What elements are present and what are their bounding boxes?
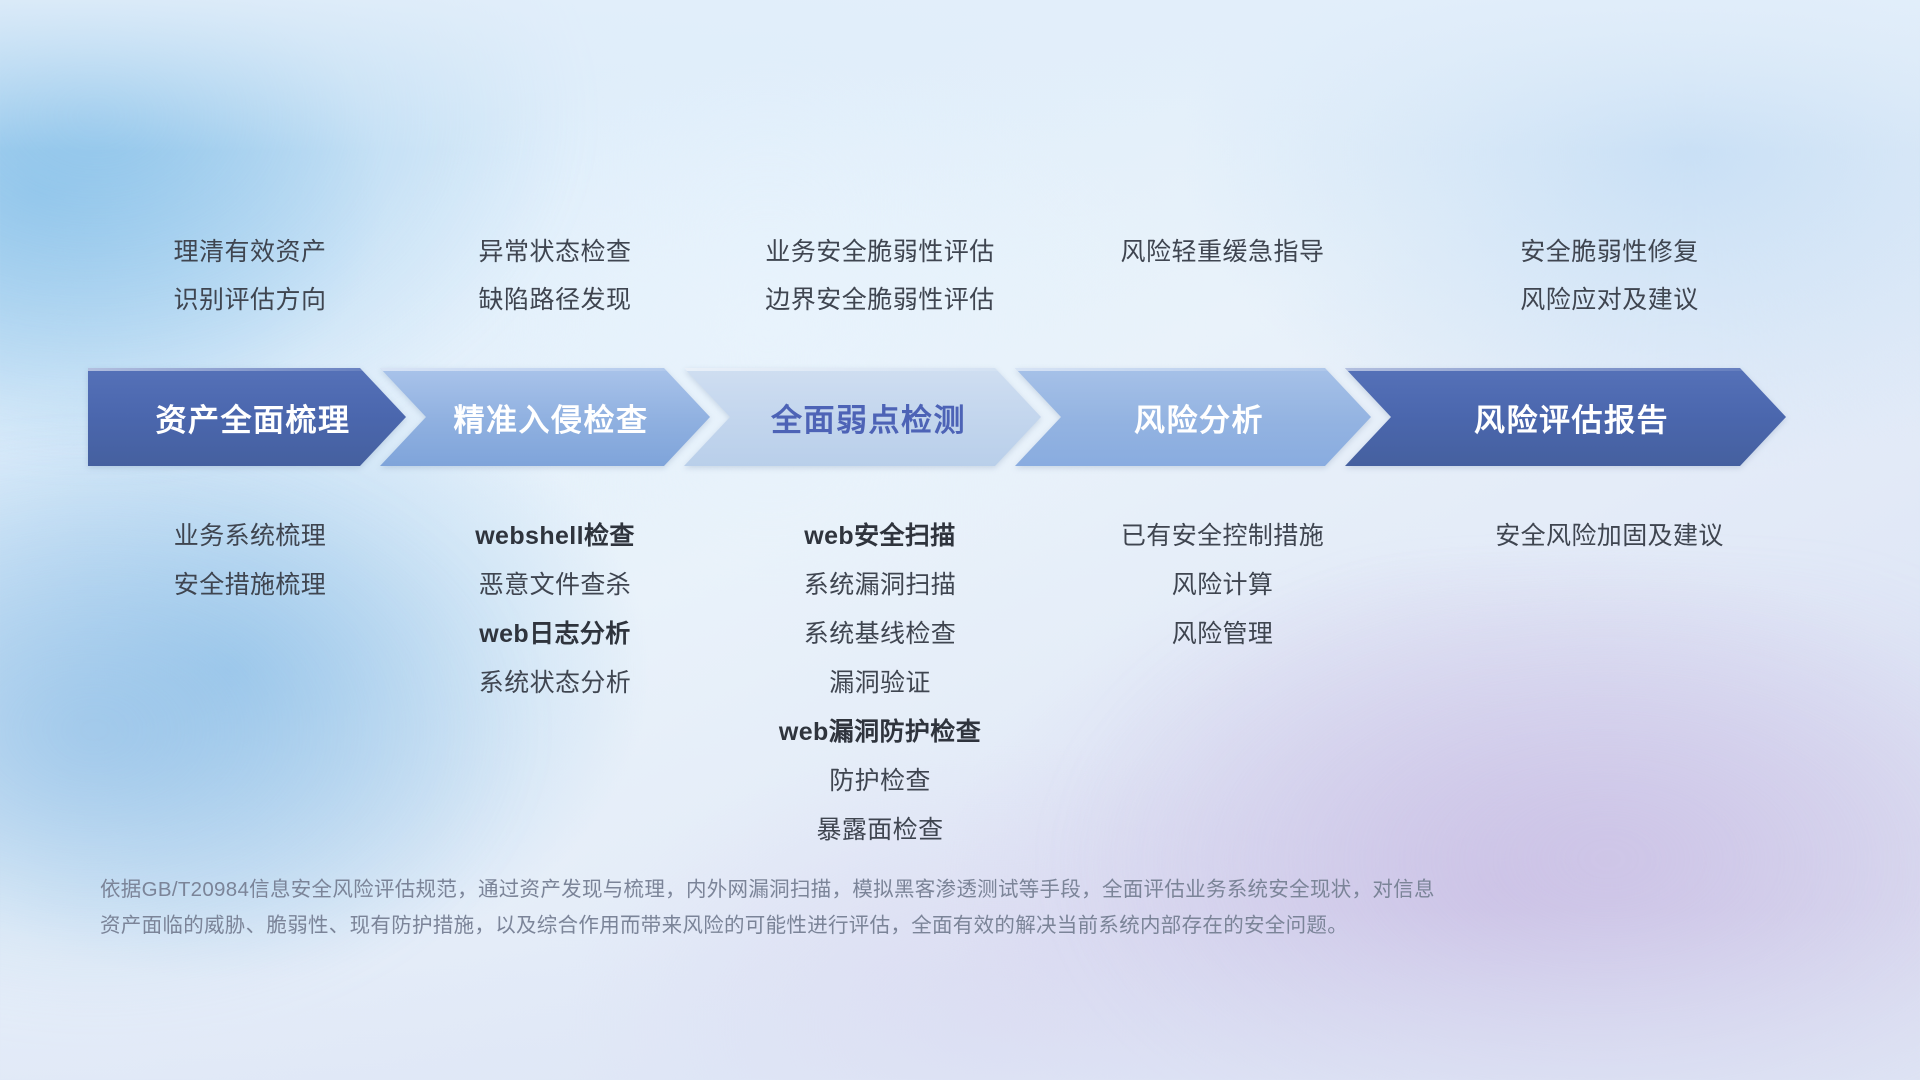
list-item: 漏洞验证: [829, 659, 931, 708]
top-column-risk-analysis: 风险轻重缓急指导: [1050, 228, 1395, 324]
footer-line-1: 依据GB/T20984信息安全风险评估规范，通过资产发现与梳理，内外网漏洞扫描，…: [100, 872, 1620, 908]
process-stage-label: 全面弱点检测: [759, 395, 966, 440]
list-item: 系统漏洞扫描: [804, 561, 956, 610]
top-outcomes-row: 理清有效资产 识别评估方向 异常状态检查 缺陷路径发现 业务安全脆弱性评估 边界…: [100, 228, 1824, 324]
list-item: 安全措施梳理: [174, 561, 326, 610]
top-item: 理清有效资产: [173, 228, 326, 276]
process-stage-label: 精准入侵检查: [442, 395, 649, 440]
list-item: 暴露面检查: [816, 806, 943, 855]
list-item: 风险计算: [1172, 561, 1274, 610]
slide-stage: 理清有效资产 识别评估方向 异常状态检查 缺陷路径发现 业务安全脆弱性评估 边界…: [0, 0, 1920, 1080]
bottom-column-risk-report: 安全风险加固及建议: [1395, 512, 1824, 561]
list-item: web安全扫描: [804, 512, 955, 561]
top-item: 边界安全脆弱性评估: [765, 276, 995, 324]
list-item: 业务系统梳理: [174, 512, 326, 561]
process-stage-risk-analysis[interactable]: 风险分析: [1015, 368, 1371, 466]
top-column-intrusion-check: 异常状态检查 缺陷路径发现: [400, 228, 710, 324]
list-item: web日志分析: [479, 610, 630, 659]
bottom-column-asset-inventory: 业务系统梳理 安全措施梳理: [100, 512, 400, 610]
top-item: 异常状态检查: [478, 228, 631, 276]
footer-description: 依据GB/T20984信息安全风险评估规范，通过资产发现与梳理，内外网漏洞扫描，…: [100, 872, 1620, 944]
process-stage-label: 风险评估报告: [1462, 395, 1669, 440]
bottom-column-intrusion-check: webshell检查 恶意文件查杀 web日志分析 系统状态分析: [400, 512, 710, 708]
list-item: web漏洞防护检查: [779, 708, 981, 757]
top-item: 安全脆弱性修复: [1520, 228, 1699, 276]
process-stage-asset-inventory[interactable]: 资产全面梳理: [88, 368, 406, 466]
bottom-column-risk-analysis: 已有安全控制措施 风险计算 风险管理: [1050, 512, 1395, 659]
process-stage-intrusion-check[interactable]: 精准入侵检查: [380, 368, 710, 466]
process-stage-weakness-detection[interactable]: 全面弱点检测: [684, 368, 1041, 466]
process-chevron-band: 资产全面梳理 精准入侵检查 全面弱点检测 风险分析 风险评估报告: [88, 368, 1838, 466]
top-item: 业务安全脆弱性评估: [765, 228, 995, 276]
top-item: 识别评估方向: [173, 276, 326, 324]
bottom-capabilities-row: 业务系统梳理 安全措施梳理 webshell检查 恶意文件查杀 web日志分析 …: [100, 512, 1824, 855]
process-stage-risk-report[interactable]: 风险评估报告: [1345, 368, 1786, 466]
top-column-risk-report: 安全脆弱性修复 风险应对及建议: [1395, 228, 1824, 324]
list-item: 风险管理: [1172, 610, 1274, 659]
bottom-column-weakness-detection: web安全扫描 系统漏洞扫描 系统基线检查 漏洞验证 web漏洞防护检查 防护检…: [710, 512, 1050, 855]
list-item: 已有安全控制措施: [1121, 512, 1324, 561]
list-item: 系统基线检查: [804, 610, 956, 659]
list-item: webshell检查: [475, 512, 635, 561]
top-item: 风险应对及建议: [1520, 276, 1699, 324]
top-item: 缺陷路径发现: [478, 276, 631, 324]
list-item: 系统状态分析: [479, 659, 631, 708]
footer-line-2: 资产面临的威胁、脆弱性、现有防护措施，以及综合作用而带来风险的可能性进行评估，全…: [100, 908, 1620, 944]
process-stage-label: 资产全面梳理: [144, 395, 351, 440]
process-stage-label: 风险分析: [1122, 395, 1264, 440]
list-item: 恶意文件查杀: [479, 561, 631, 610]
top-column-weakness-detection: 业务安全脆弱性评估 边界安全脆弱性评估: [710, 228, 1050, 324]
top-item: 风险轻重缓急指导: [1120, 228, 1324, 276]
list-item: 防护检查: [829, 757, 931, 806]
top-column-asset-inventory: 理清有效资产 识别评估方向: [100, 228, 400, 324]
list-item: 安全风险加固及建议: [1495, 512, 1724, 561]
